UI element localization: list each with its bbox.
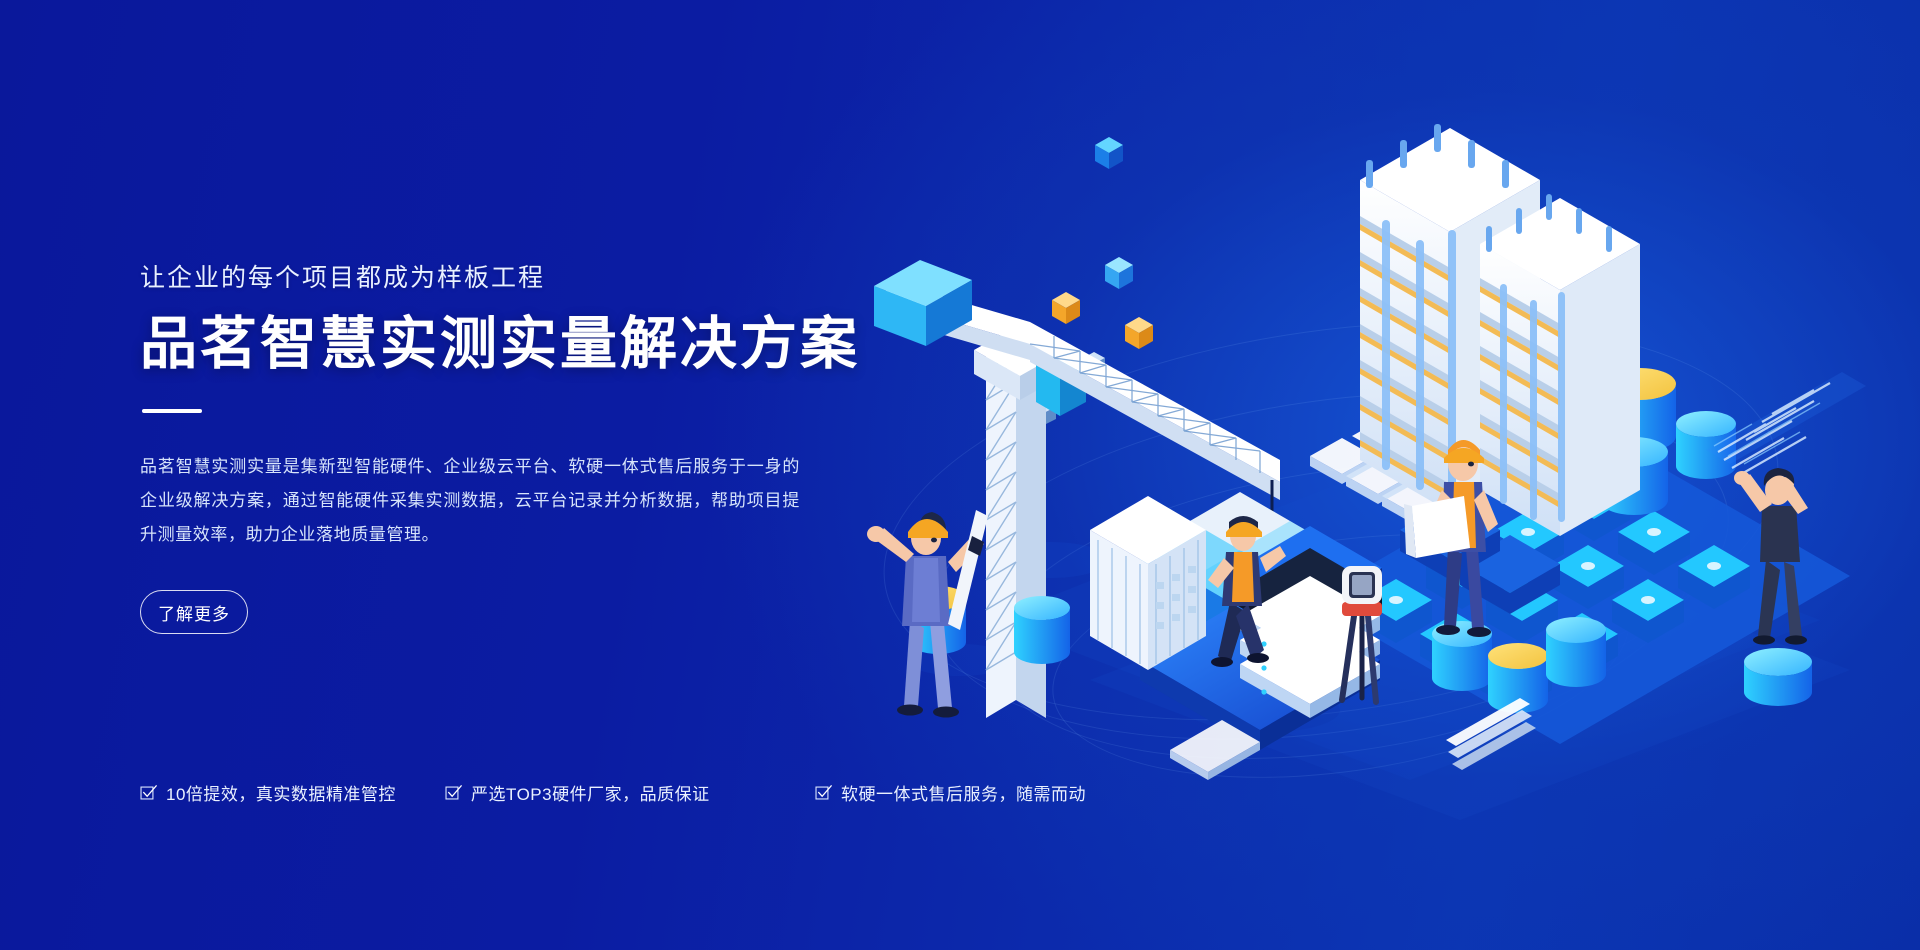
hero-description: 品茗智慧实测实量是集新型智能硬件、企业级云平台、软硬一体式售后服务于一身的企业级…	[140, 450, 800, 552]
list-item-label: 10倍提效，真实数据精准管控	[166, 780, 396, 805]
list-item-label: 严选TOP3硬件厂家，品质保证	[471, 780, 710, 805]
hero-subtitle: 让企业的每个项目都成为样板工程	[140, 258, 545, 294]
list-item: 10倍提效，真实数据精准管控	[140, 780, 396, 805]
title-divider	[142, 409, 202, 413]
learn-more-button[interactable]: 了解更多	[140, 590, 248, 634]
page-title: 品茗智慧实测实量解决方案	[140, 315, 860, 375]
check-square-icon	[445, 784, 462, 801]
hero-banner: 让企业的每个项目都成为样板工程 品茗智慧实测实量解决方案 品茗智慧实测实量是集新…	[0, 0, 1920, 950]
isometric-construction-illustration	[840, 60, 1920, 860]
check-square-icon	[140, 784, 157, 801]
worker-with-measuring-rod	[867, 510, 988, 718]
list-item: 严选TOP3硬件厂家，品质保证	[445, 780, 710, 805]
small-building	[1090, 496, 1206, 670]
check-square-icon	[815, 784, 832, 801]
multi-story-building-right	[1480, 194, 1640, 536]
